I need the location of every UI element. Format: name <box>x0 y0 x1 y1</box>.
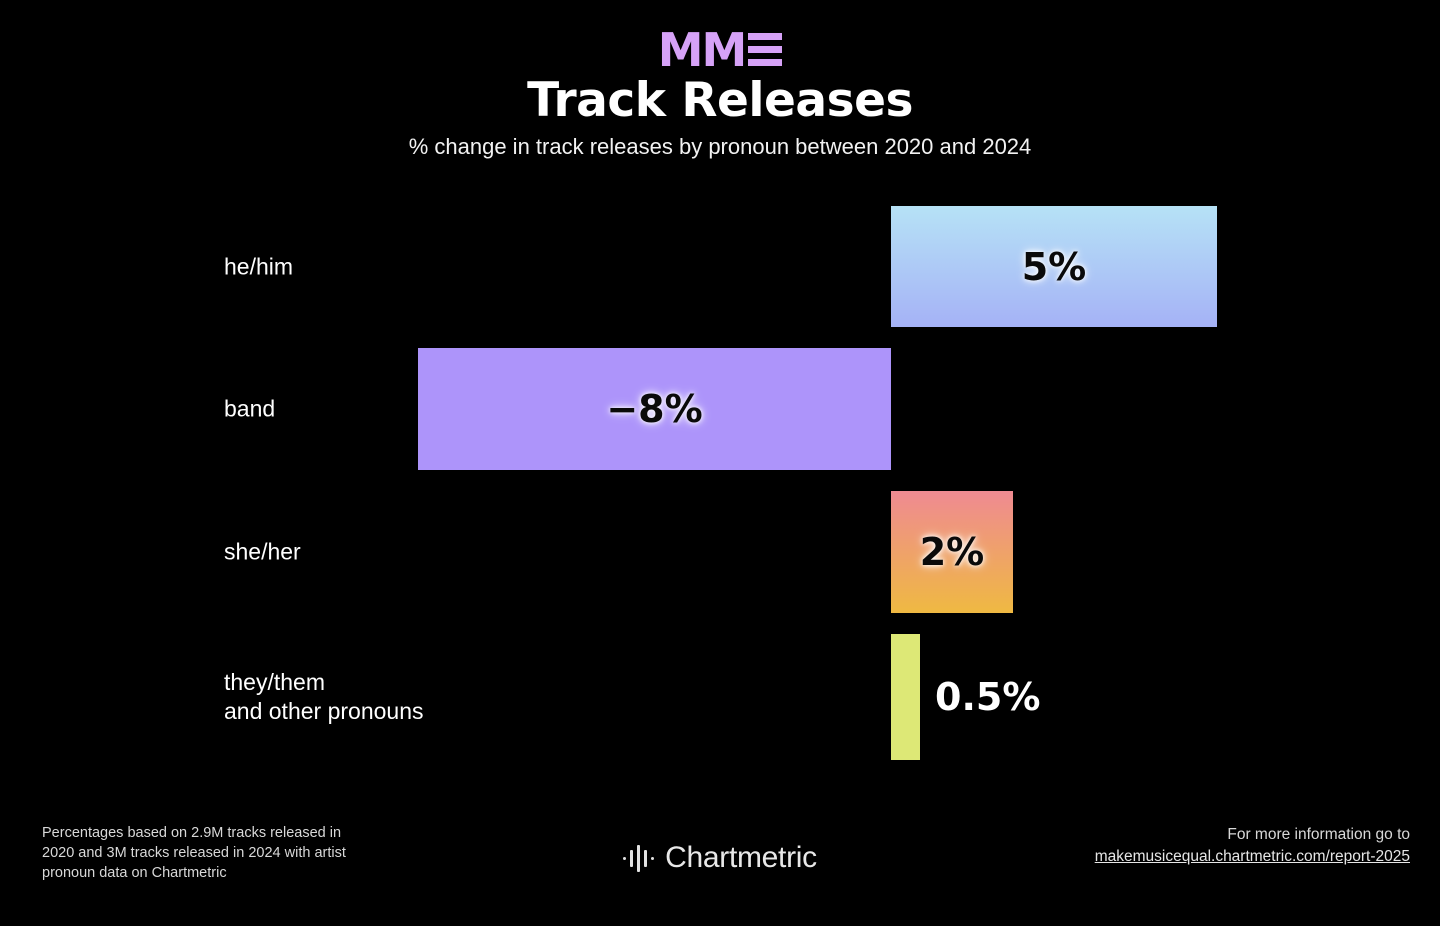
bar-value-label: 2% <box>920 533 985 571</box>
chart-footer: Percentages based on 2.9M tracks release… <box>0 796 1440 926</box>
chart-header: MM Track Releases % change in track rele… <box>0 0 1440 160</box>
report-link[interactable]: makemusicequal.chartmetric.com/report-20… <box>1095 846 1410 868</box>
page-title: Track Releases <box>0 75 1440 127</box>
more-info-label: For more information go to <box>1227 826 1410 843</box>
page-subtitle: % change in track releases by pronoun be… <box>0 134 1440 160</box>
waveform-icon <box>623 844 654 872</box>
category-label: she/her <box>224 538 301 567</box>
more-info-block: For more information go to makemusicequa… <box>1095 824 1410 868</box>
bar-they-them[interactable]: 0.5% <box>891 634 920 760</box>
bar-she-her[interactable]: 2% <box>891 491 1013 613</box>
category-label: band <box>224 395 275 424</box>
bar-value-label: 0.5% <box>935 678 1040 716</box>
bar-value-label: −8% <box>606 390 702 428</box>
mme-logo-text: MM <box>658 31 746 69</box>
chartmetric-wordmark: Chartmetric <box>665 842 817 874</box>
bar-row: band −8% <box>0 348 1440 470</box>
mme-logo: MM <box>658 31 783 69</box>
three-bar-e-icon <box>748 33 782 66</box>
bar-row: she/her 2% <box>0 491 1440 613</box>
bar-he-him[interactable]: 5% <box>891 206 1217 327</box>
bar-row: they/them and other pronouns 0.5% <box>0 634 1440 760</box>
bar-value-label: 5% <box>1022 248 1087 286</box>
bar-chart-plot-area: he/him 5% band −8% she/her 2% they/them … <box>0 190 1440 780</box>
bar-band[interactable]: −8% <box>418 348 891 470</box>
bar-row: he/him 5% <box>0 206 1440 327</box>
category-label: they/them and other pronouns <box>224 668 424 726</box>
category-label: he/him <box>224 252 293 281</box>
